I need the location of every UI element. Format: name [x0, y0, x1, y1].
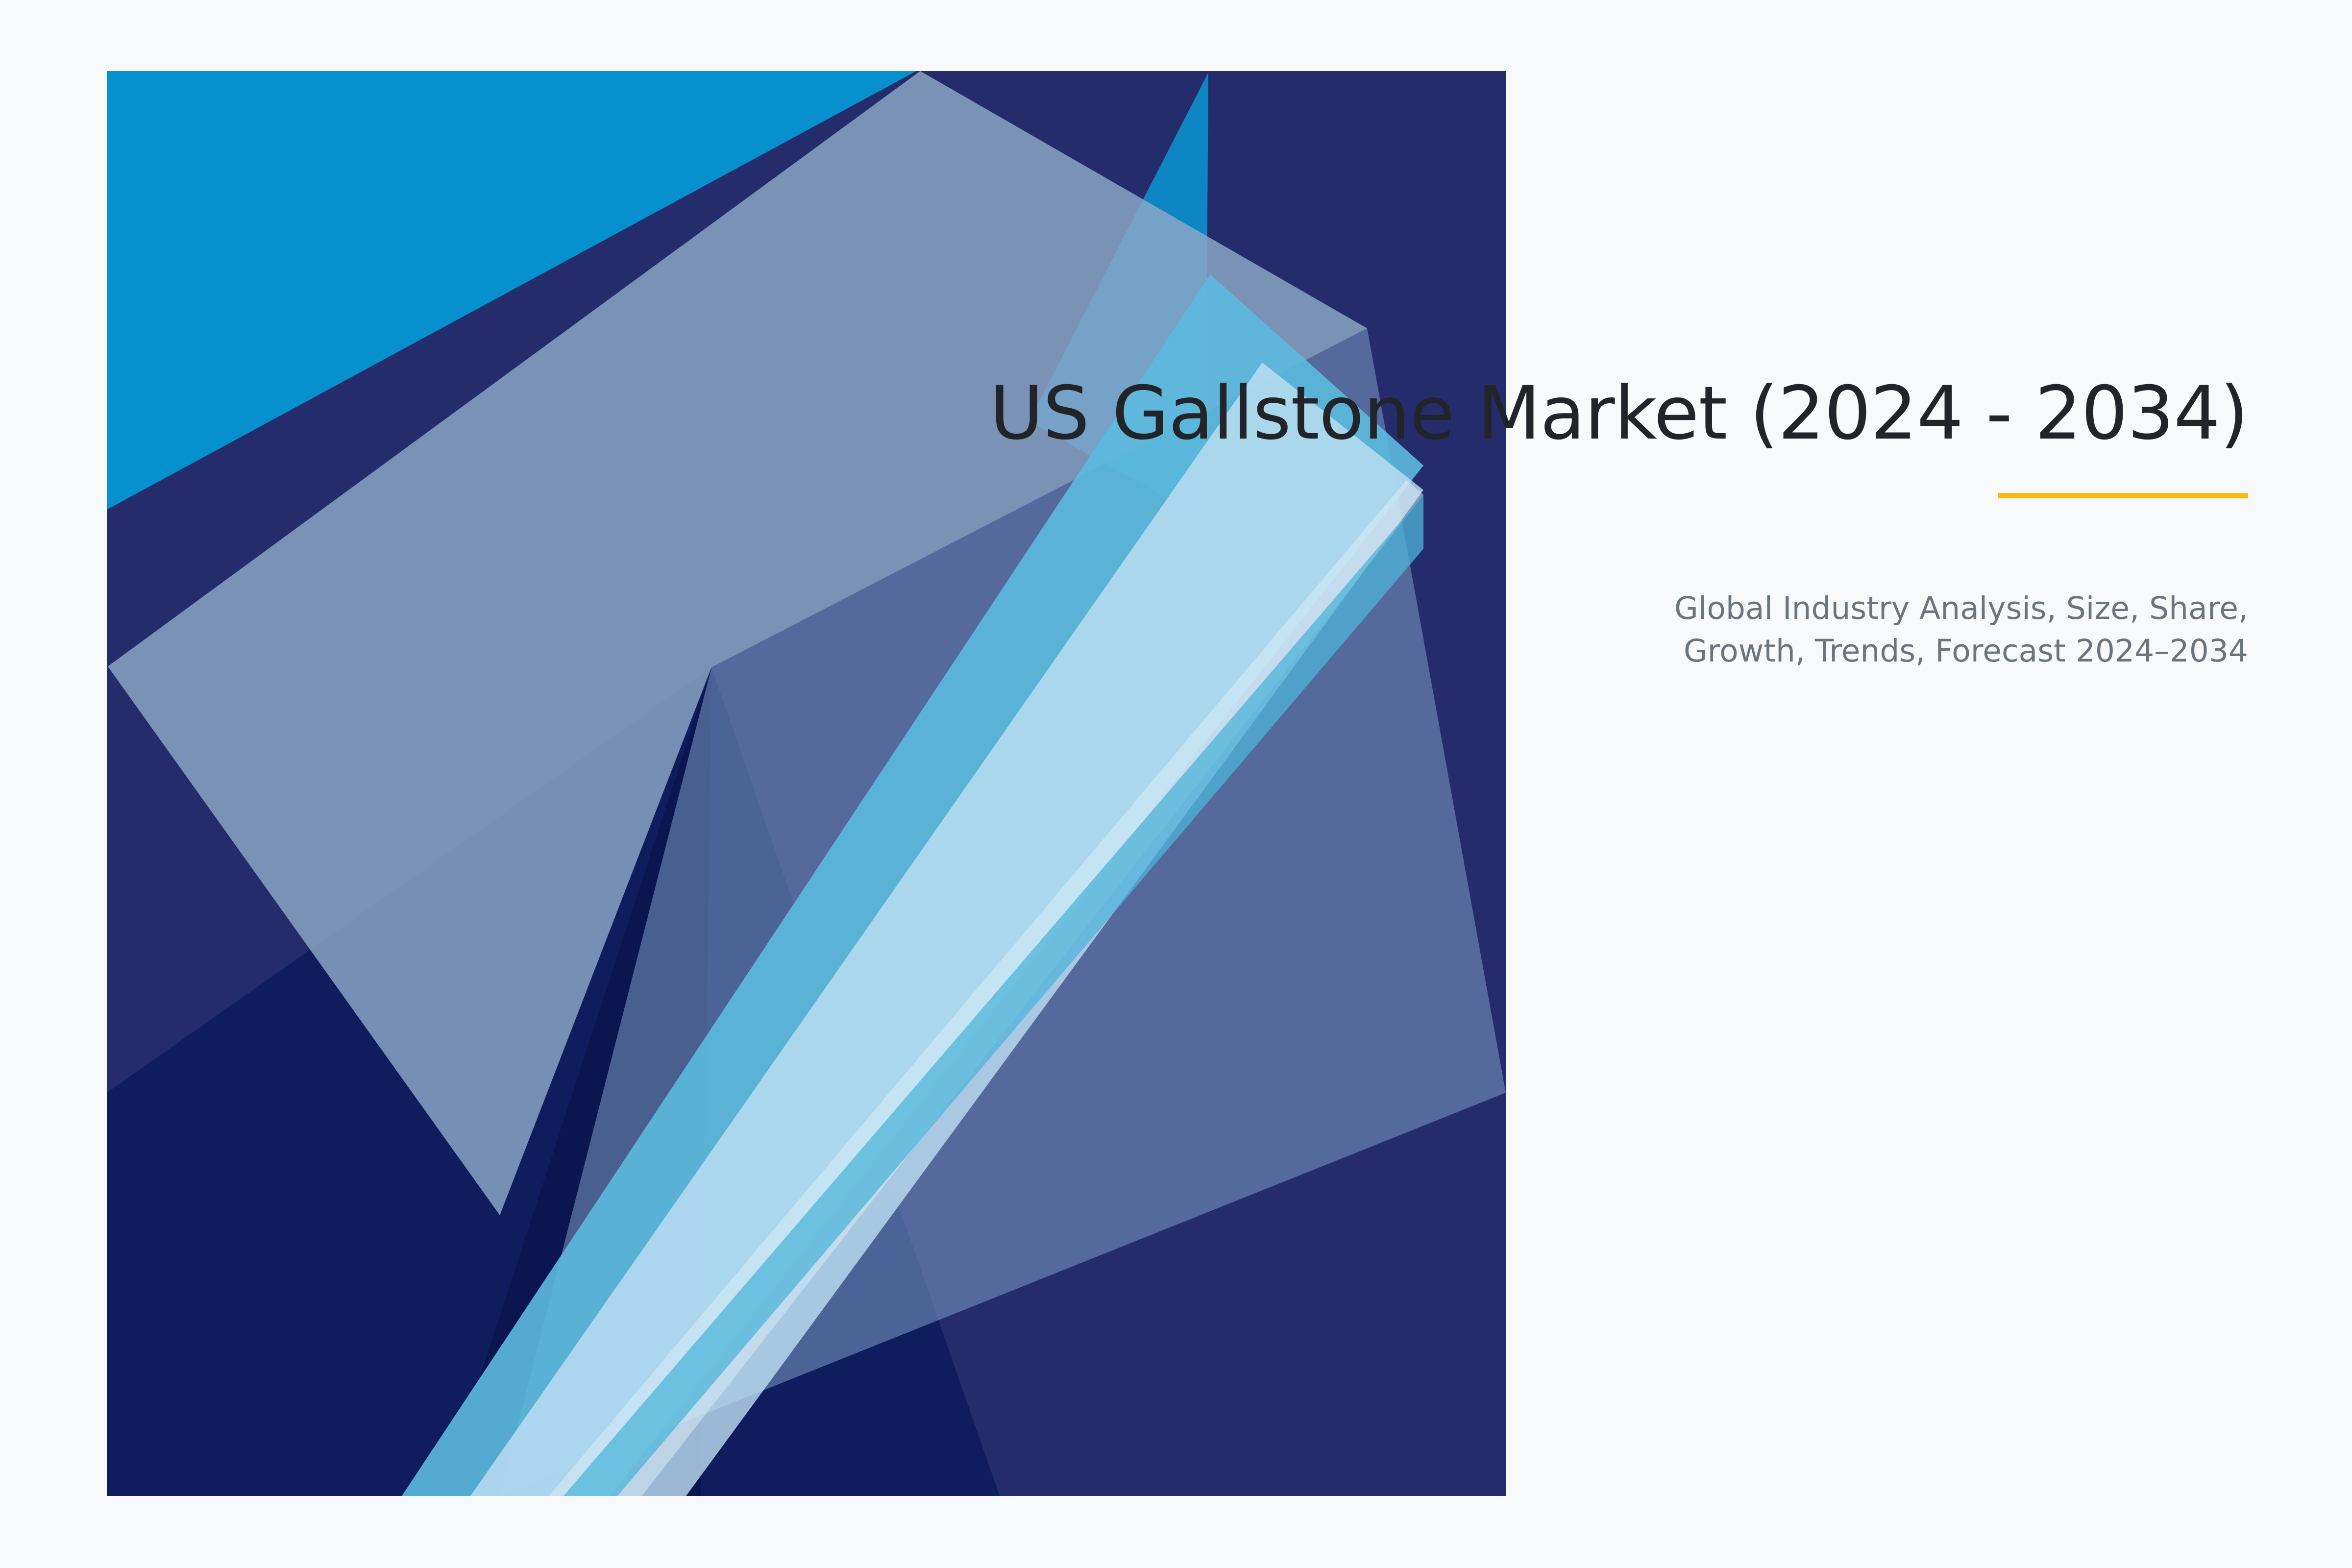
- abstract-polygons-decoration: [0, 0, 2352, 1568]
- shape-navy-wedge: [107, 71, 1506, 1496]
- report-cover-slide: US Gallstone Market (2024 - 2034) Global…: [0, 0, 2352, 1568]
- accent-rule-container: [637, 493, 2248, 498]
- page-title: US Gallstone Market (2024 - 2034): [637, 372, 2248, 455]
- title-block: US Gallstone Market (2024 - 2034) Global…: [637, 372, 2248, 673]
- shape-dark-navy-lower: [107, 667, 1000, 1496]
- shape-cyan-base: [107, 71, 1508, 1497]
- page-subtitle: Global Industry Analysis, Size, Share, G…: [1582, 588, 2248, 673]
- accent-underline: [1998, 493, 2248, 498]
- shape-dark-navy-spike: [441, 667, 711, 1496]
